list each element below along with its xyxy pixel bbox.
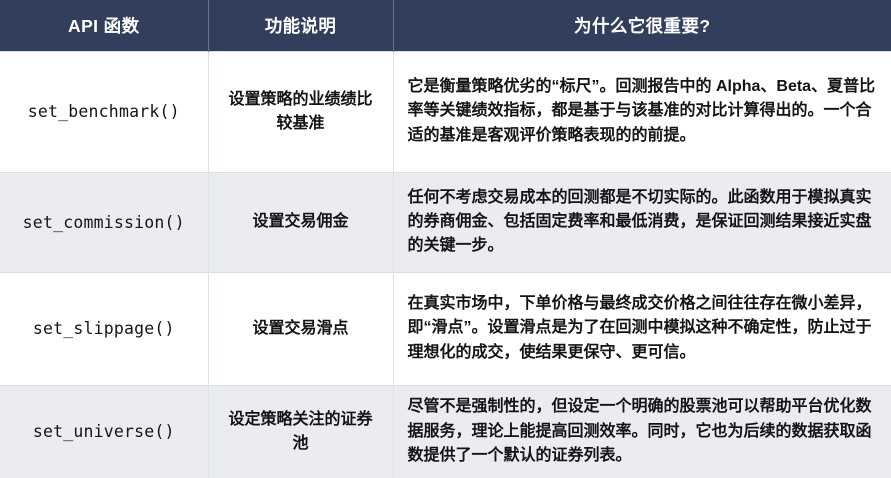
- column-header-function-description: 功能说明: [208, 0, 393, 51]
- cell-function-description: 设置策略的业绩绩比较基准: [208, 51, 393, 172]
- cell-why-important: 任何不考虑交易成本的回测都是不切实际的。此函数用于模拟真实的券商佣金、包括固定费…: [393, 172, 891, 272]
- table-row: set_slippage() 设置交易滑点 在真实市场中，下单价格与最终成交价格…: [0, 272, 891, 385]
- header-row: API 函数 功能说明 为什么它很重要?: [0, 0, 891, 51]
- cell-why-important: 在真实市场中，下单价格与最终成交价格之间往往存在微小差异，即“滑点”。设置滑点是…: [393, 272, 891, 385]
- cell-api-function: set_slippage(): [0, 272, 208, 385]
- table-row: set_benchmark() 设置策略的业绩绩比较基准 它是衡量策略优劣的“标…: [0, 51, 891, 172]
- cell-api-function: set_commission(): [0, 172, 208, 272]
- table-body: set_benchmark() 设置策略的业绩绩比较基准 它是衡量策略优劣的“标…: [0, 51, 891, 478]
- cell-function-description: 设置交易滑点: [208, 272, 393, 385]
- api-table-container: 量化吧 Q QUANT API 函数 功能说明 为什么它很重要? set_ben…: [0, 0, 891, 478]
- column-header-api-function: API 函数: [0, 0, 208, 51]
- table-header: API 函数 功能说明 为什么它很重要?: [0, 0, 891, 51]
- cell-api-function: set_benchmark(): [0, 51, 208, 172]
- column-header-why-important: 为什么它很重要?: [393, 0, 891, 51]
- cell-function-description: 设定策略关注的证券池: [208, 385, 393, 478]
- table-row: set_universe() 设定策略关注的证券池 尽管不是强制性的，但设定一个…: [0, 385, 891, 478]
- table-row: set_commission() 设置交易佣金 任何不考虑交易成本的回测都是不切…: [0, 172, 891, 272]
- cell-function-description: 设置交易佣金: [208, 172, 393, 272]
- cell-why-important: 尽管不是强制性的，但设定一个明确的股票池可以帮助平台优化数据服务，理论上能提高回…: [393, 385, 891, 478]
- cell-why-important: 它是衡量策略优劣的“标尺”。回测报告中的 Alpha、Beta、夏普比率等关键绩…: [393, 51, 891, 172]
- api-reference-table: API 函数 功能说明 为什么它很重要? set_benchmark() 设置策…: [0, 0, 891, 478]
- cell-api-function: set_universe(): [0, 385, 208, 478]
